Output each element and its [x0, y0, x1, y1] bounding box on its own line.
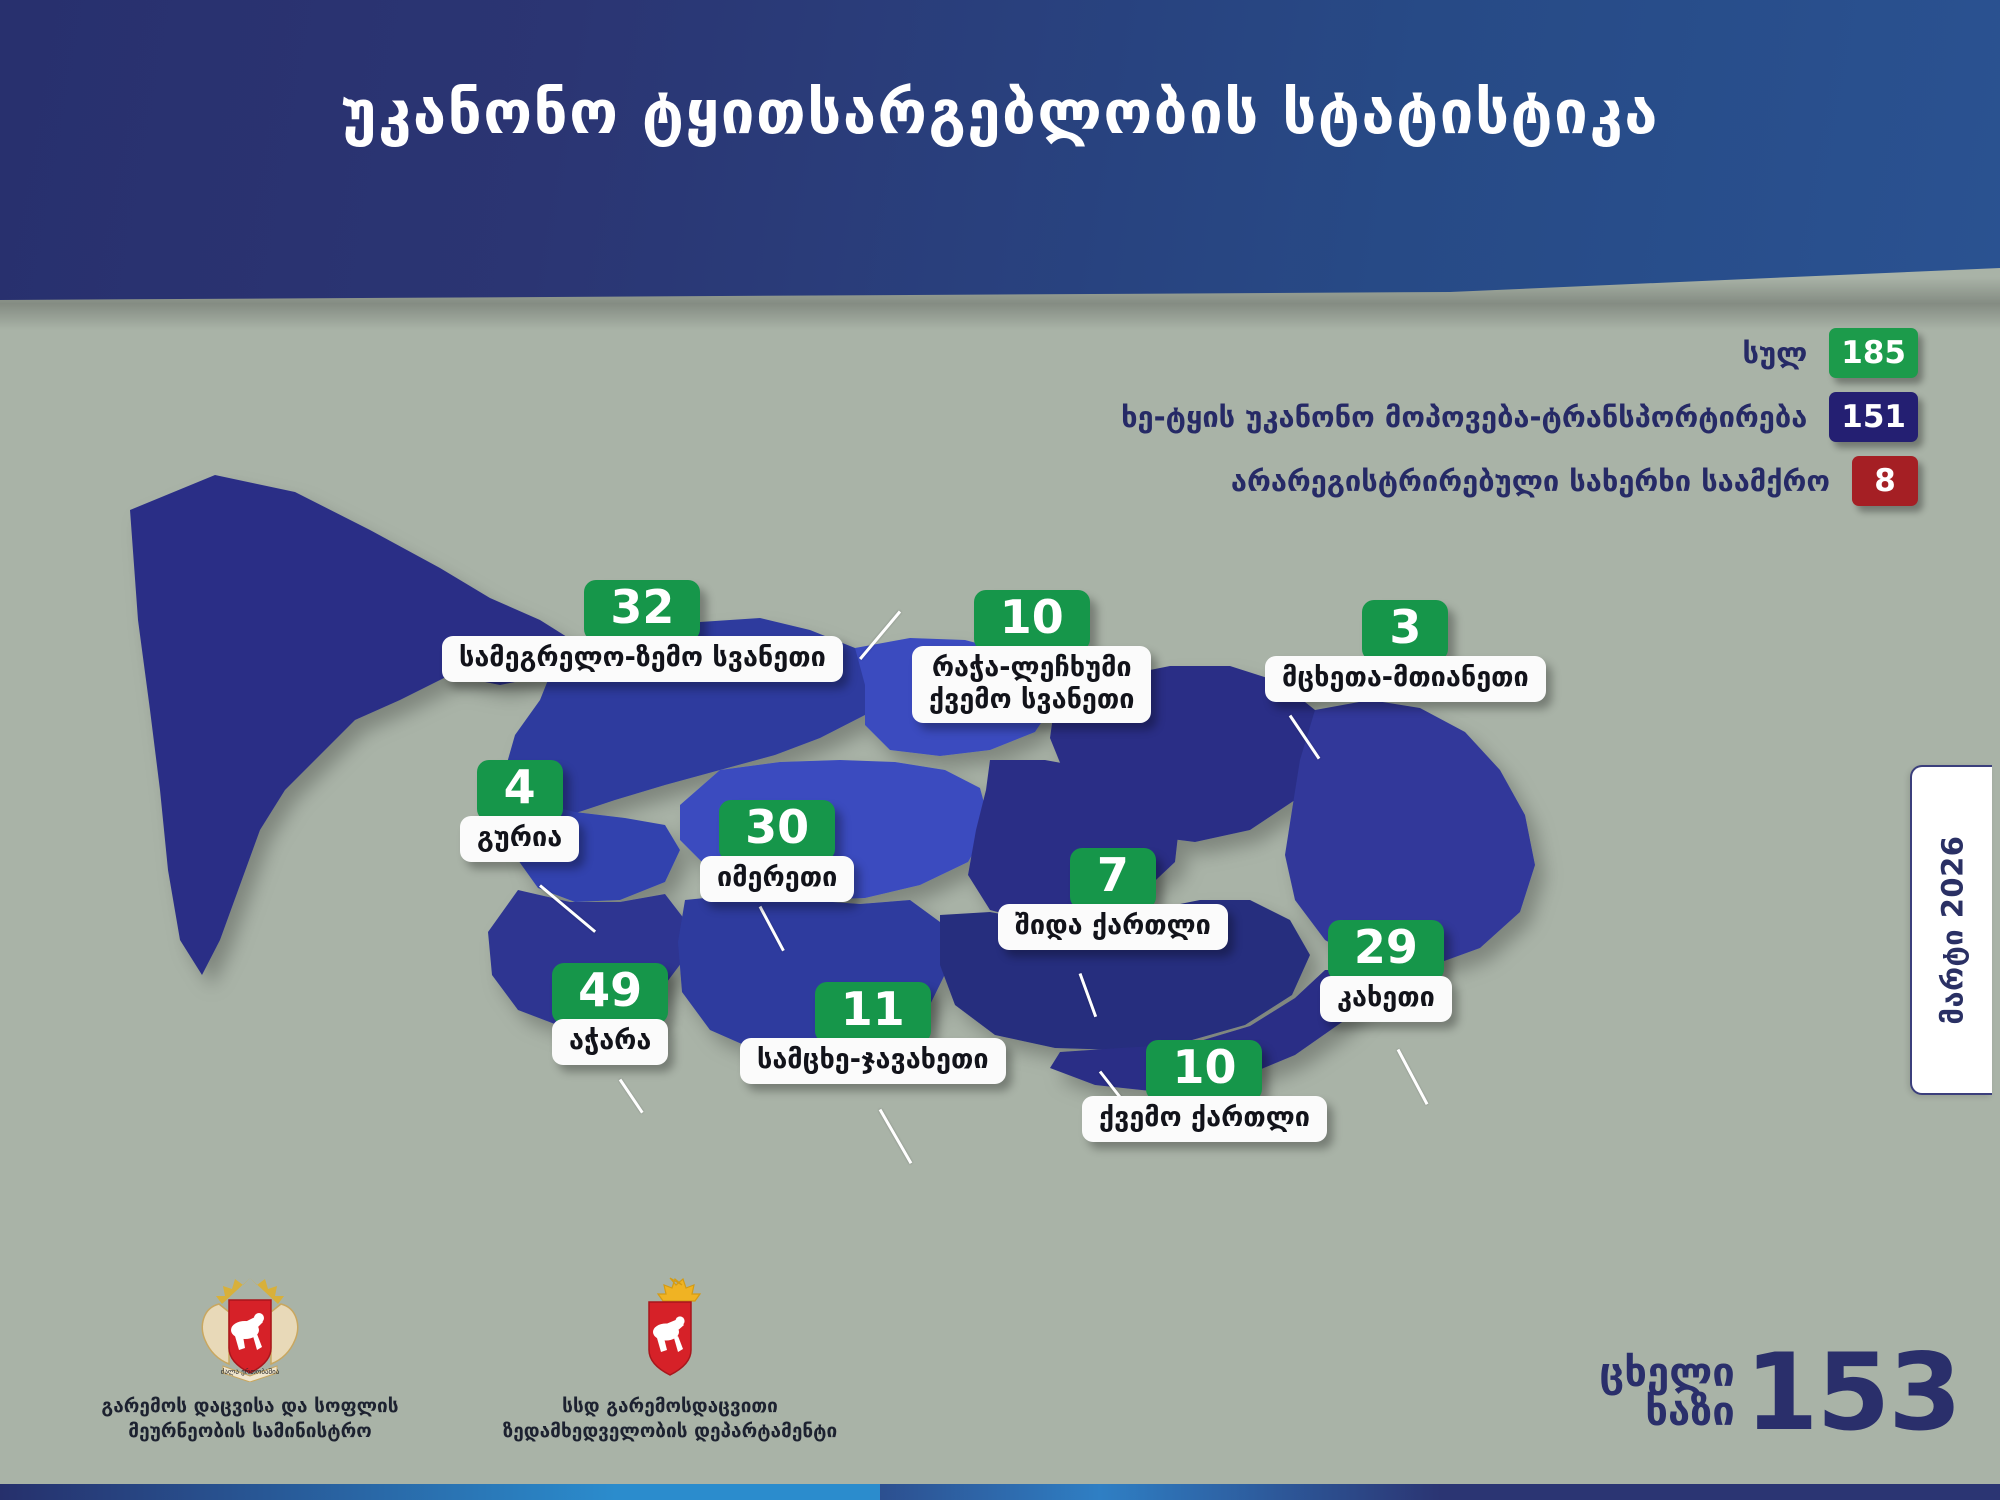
- callout-mtskheta[interactable]: 3 მცხეთა-მთიანეთი: [1265, 600, 1546, 702]
- callout-shida-kartli[interactable]: 7 შიდა ქართლი: [998, 848, 1228, 950]
- legend-label-logging: ხე-ტყის უკანონო მოპოვება-ტრანსპორტირება: [1121, 400, 1807, 434]
- callout-value-adjara: 49: [552, 963, 668, 1024]
- callout-racha[interactable]: 10 რაჭა-ლეჩხუმი ქვემო სვანეთი: [912, 590, 1151, 723]
- map-region-abkhazia: [130, 475, 575, 975]
- date-tab: მარტი 2026: [1910, 765, 1992, 1095]
- callout-label-imereti: იმერეთი: [700, 856, 854, 902]
- bottom-band: [0, 1484, 2000, 1500]
- ministry-crest-icon: ძალა ერთობაშია: [185, 1274, 315, 1382]
- legend-label-total: სულ: [1742, 336, 1807, 370]
- callout-label-samegrelo: სამეგრელო-ზემო სვანეთი: [442, 636, 843, 682]
- callout-value-samtskhe: 11: [815, 982, 931, 1043]
- georgia-map: [120, 470, 1680, 1230]
- date-tab-label: მარტი 2026: [1935, 836, 1969, 1025]
- callout-label-shida-kartli: შიდა ქართლი: [998, 904, 1228, 950]
- callout-adjara[interactable]: 49 აჭარა: [552, 963, 668, 1065]
- header-band: [0, 0, 2000, 300]
- callout-guria[interactable]: 4 გურია: [460, 760, 579, 862]
- department-crest-icon: [615, 1274, 725, 1382]
- callout-value-imereti: 30: [719, 800, 835, 861]
- callout-label-adjara: აჭარა: [552, 1019, 668, 1065]
- hotline-number: 153: [1745, 1348, 1960, 1438]
- callout-value-kvemo-kartli: 10: [1146, 1040, 1262, 1101]
- ministry-caption: გარემოს დაცვისა და სოფლის მეურნეობის სამ…: [60, 1394, 440, 1445]
- callout-value-shida-kartli: 7: [1070, 848, 1156, 909]
- callout-kakheti[interactable]: 29 კახეთი: [1320, 920, 1452, 1022]
- callout-value-samegrelo: 32: [584, 580, 700, 641]
- legend-label-sawmill: არარეგისტრირებული სახერხი საამქრო: [1231, 464, 1830, 498]
- infographic-poster: უკანონო ტყითსარგებლობის სტატისტიკა სულ 1…: [0, 0, 2000, 1500]
- callout-value-racha: 10: [974, 590, 1090, 651]
- department-logo-block: სსდ გარემოსდაცვითი ზედამხედველობის დეპარ…: [470, 1274, 870, 1445]
- callout-label-mtskheta: მცხეთა-მთიანეთი: [1265, 656, 1546, 702]
- page-title: უკანონო ტყითსარგებლობის სტატისტიკა: [0, 78, 2000, 148]
- legend-value-sawmill: 8: [1852, 456, 1918, 506]
- callout-label-guria: გურია: [460, 816, 579, 862]
- ministry-logo-block: ძალა ერთობაშია გარემოს დაცვისა და სოფლის…: [60, 1274, 440, 1445]
- department-caption: სსდ გარემოსდაცვითი ზედამხედველობის დეპარ…: [470, 1394, 870, 1445]
- callout-label-racha: რაჭა-ლეჩხუმი ქვემო სვანეთი: [912, 646, 1151, 724]
- legend-row-total: სულ 185: [1742, 328, 1918, 378]
- legend-value-total: 185: [1829, 328, 1918, 378]
- callout-samegrelo[interactable]: 32 სამეგრელო-ზემო სვანეთი: [442, 580, 843, 682]
- callout-label-samtskhe: სამცხე-ჯავახეთი: [740, 1038, 1006, 1084]
- legend-row-sawmill: არარეგისტრირებული სახერხი საამქრო 8: [1231, 456, 1918, 506]
- hotline-words: ცხელი ხაზი: [1599, 1354, 1734, 1432]
- callout-label-kvemo-kartli: ქვემო ქართლი: [1082, 1096, 1327, 1142]
- legend: სულ 185 ხე-ტყის უკანონო მოპოვება-ტრანსპო…: [1121, 328, 1918, 506]
- callout-samtskhe[interactable]: 11 სამცხე-ჯავახეთი: [740, 982, 1006, 1084]
- callout-imereti[interactable]: 30 იმერეთი: [700, 800, 854, 902]
- callout-value-kakheti: 29: [1328, 920, 1444, 981]
- callout-label-kakheti: კახეთი: [1320, 976, 1452, 1022]
- callout-value-guria: 4: [477, 760, 563, 821]
- legend-row-logging: ხე-ტყის უკანონო მოპოვება-ტრანსპორტირება …: [1121, 392, 1918, 442]
- callout-value-mtskheta: 3: [1362, 600, 1448, 661]
- callout-kvemo-kartli[interactable]: 10 ქვემო ქართლი: [1082, 1040, 1327, 1142]
- hotline-block: ცხელი ხაზი 153: [1599, 1348, 1960, 1438]
- svg-text:ძალა ერთობაშია: ძალა ერთობაშია: [221, 1367, 280, 1376]
- legend-value-logging: 151: [1829, 392, 1918, 442]
